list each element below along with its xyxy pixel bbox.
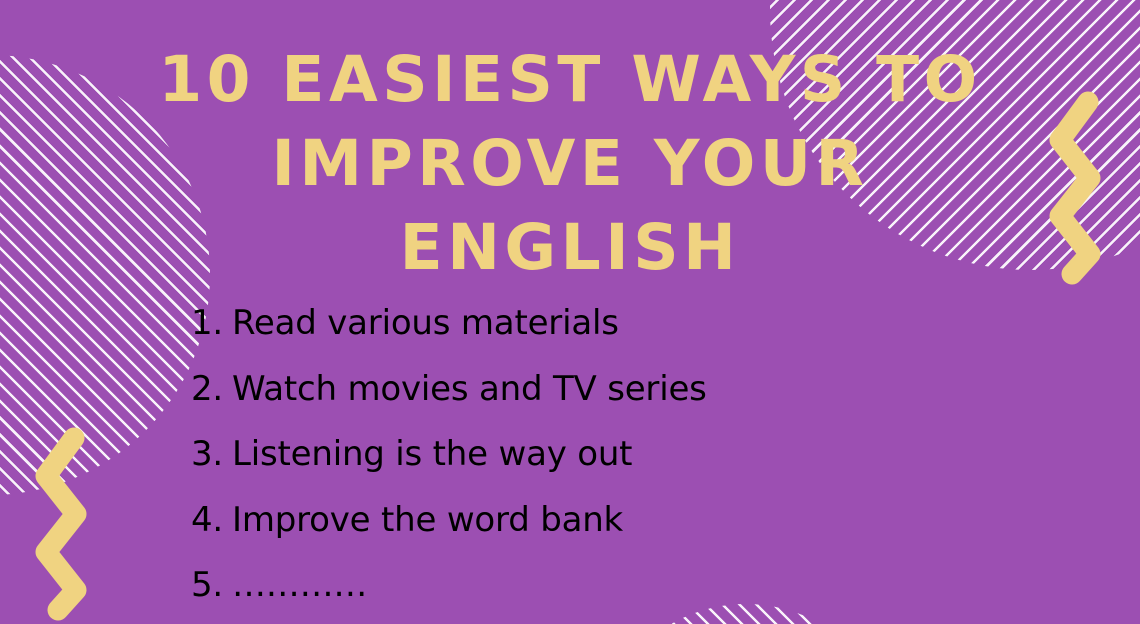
list-item-marker: 3. bbox=[191, 422, 232, 488]
list-item: 3. Listening is the way out bbox=[191, 422, 707, 488]
list-item-label: Listening is the way out bbox=[232, 422, 632, 488]
list-item-label: Improve the word bank bbox=[232, 488, 623, 554]
list-item-marker: 5. bbox=[191, 553, 232, 619]
poster-canvas: 10 Easiest Ways to Improve Your English … bbox=[0, 0, 1140, 624]
list-item-label: ………… bbox=[232, 553, 367, 619]
list-item-marker: 4. bbox=[191, 488, 232, 554]
list-item-marker: 1. bbox=[191, 291, 232, 357]
list-item-label: Read various materials bbox=[232, 291, 619, 357]
list-item-label: Watch movies and TV series bbox=[232, 357, 707, 423]
poster-content: 10 Easiest Ways to Improve Your English … bbox=[0, 0, 1140, 624]
list-item: 2. Watch movies and TV series bbox=[191, 357, 707, 423]
tips-list: 1. Read various materials 2. Watch movie… bbox=[191, 291, 707, 619]
list-item: 4. Improve the word bank bbox=[191, 488, 707, 554]
page-title: 10 Easiest Ways to Improve Your English bbox=[0, 38, 1140, 290]
list-item: 1. Read various materials bbox=[191, 291, 707, 357]
list-item-marker: 2. bbox=[191, 357, 232, 423]
list-item: 5. ………… bbox=[191, 553, 707, 619]
